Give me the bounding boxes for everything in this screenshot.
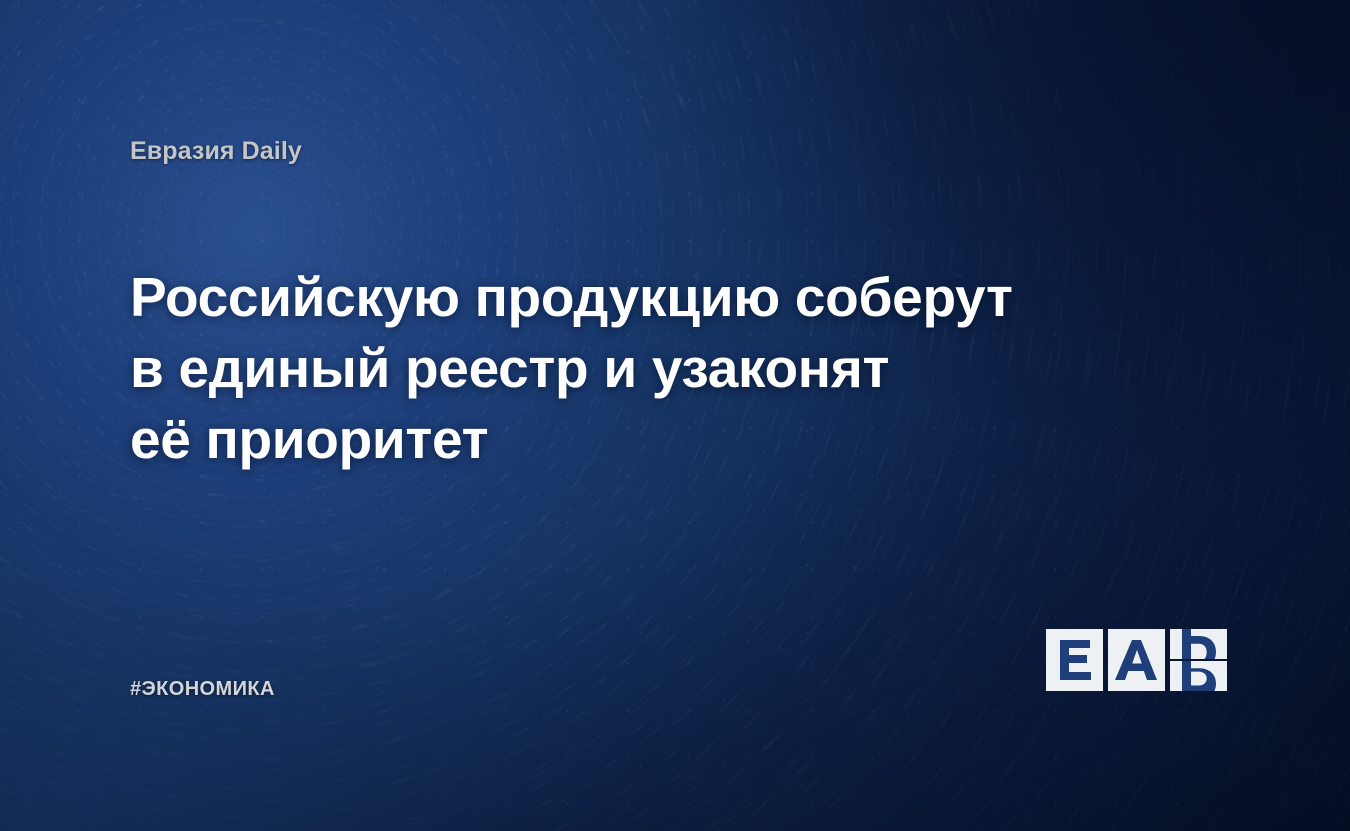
- logo-tile-d-bottom-half: [1170, 661, 1227, 691]
- logo-tile-a: [1108, 629, 1165, 691]
- letter-e-icon: [1046, 629, 1103, 691]
- logo-tile-d-top-half: [1170, 629, 1227, 659]
- headline-line-2: в единый реестр и узаконят: [130, 333, 1070, 404]
- letter-d-top-icon: [1170, 629, 1227, 659]
- letter-d-bottom-icon: [1170, 661, 1227, 691]
- logo-tile-e: [1046, 629, 1103, 691]
- card-content: Евразия Daily Российскую продукцию собер…: [0, 0, 1350, 831]
- news-card: Евразия Daily Российскую продукцию собер…: [0, 0, 1350, 831]
- category-hashtag[interactable]: #ЭКОНОМИКА: [130, 678, 275, 701]
- letter-a-icon: [1108, 629, 1165, 691]
- brand-name: Евразия Daily: [130, 137, 302, 166]
- logo-tile-d: [1170, 629, 1227, 691]
- headline: Российскую продукцию соберут в единый ре…: [130, 262, 1070, 475]
- headline-line-3: её приоритет: [130, 404, 1070, 475]
- eadaily-logo[interactable]: [1046, 629, 1227, 691]
- headline-line-1: Российскую продукцию соберут: [130, 262, 1070, 333]
